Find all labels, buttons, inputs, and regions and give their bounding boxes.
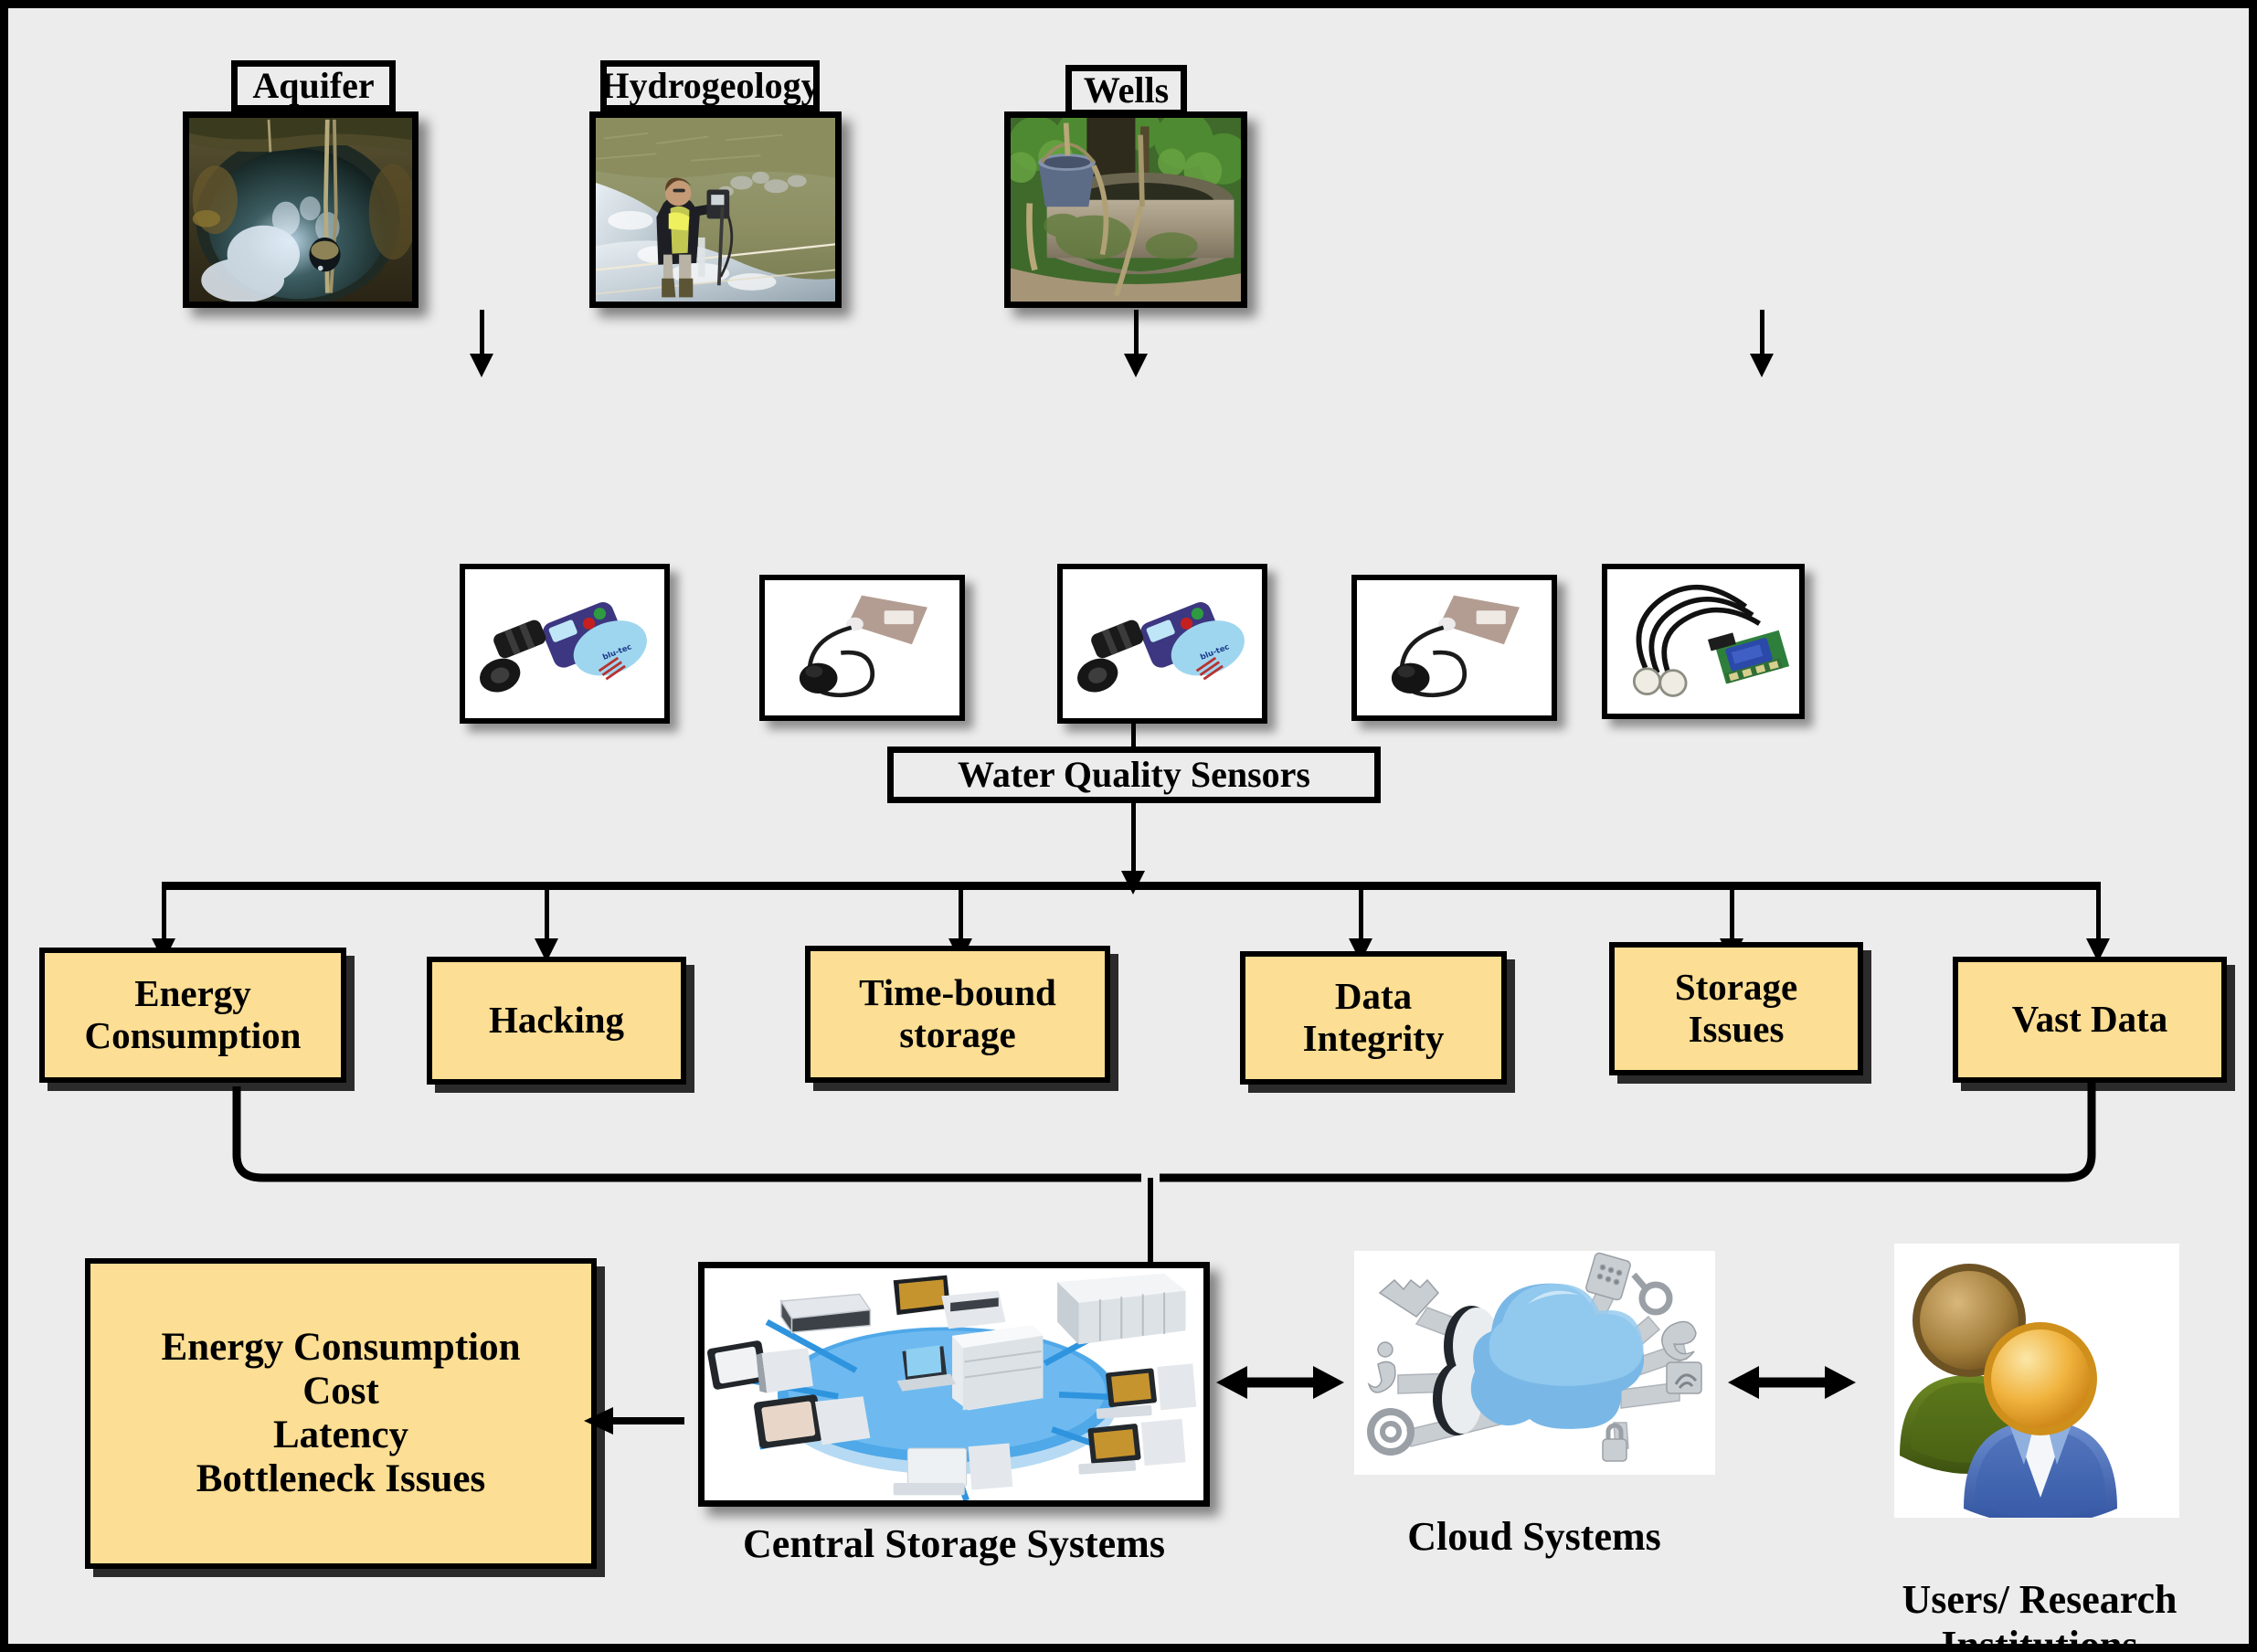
caption-users-research: Users/ Research Institutions [1870,1530,2209,1652]
issue-box-storage-issues[interactable]: Storage Issues [1609,942,1863,1075]
image-central-storage [698,1262,1210,1507]
sensor-thumb-2 [759,575,965,721]
issue-box-data-integrity[interactable]: Data Integrity [1240,951,1507,1085]
source-label-text: Wells [1084,71,1169,110]
caption-text: Cloud Systems [1407,1514,1661,1559]
source-label-text: Hydrogeology [600,67,819,105]
outcome-line: Bottleneck Issues [196,1457,486,1501]
outcome-line: Cost [302,1370,379,1414]
connector-hydrogeology-sensor [1134,310,1139,357]
issue-label: Vast Data [2012,999,2167,1041]
water-quality-sensors-box: Water Quality Sensors [887,747,1381,803]
image-users-group [1894,1244,2179,1518]
issue-box-vast-data[interactable]: Vast Data [1953,957,2227,1083]
issue-box-time-bound-storage[interactable]: Time-bound storage [805,946,1110,1083]
source-label-text: Aquifer [252,67,374,105]
diagram-canvas: Aquifer Hydrogeology Wells [0,0,2257,1652]
issue-label: Data Integrity [1303,976,1445,1060]
connector-group-bus [1131,803,1136,878]
issue-label: Hacking [489,1000,624,1042]
issue-box-hacking[interactable]: Hacking [427,957,686,1085]
arrowhead-icon [470,354,493,377]
sensor-thumb-4 [1351,575,1557,721]
issue-label: Energy Consumption [85,973,302,1057]
caption-text: Central Storage Systems [743,1521,1165,1566]
image-cloud-systems [1354,1251,1715,1475]
photo-wells [1004,111,1247,308]
sensor-thumb-5 [1602,564,1805,719]
water-quality-sensors-label: Water Quality Sensors [958,756,1310,794]
connector-sensors-group [1131,719,1136,748]
caption-text: Users/ Research Institutions [1902,1577,2178,1652]
source-label-hydrogeology: Hydrogeology [600,60,820,111]
photo-aquifer [183,111,419,308]
issue-label: Storage Issues [1675,967,1797,1051]
caption-central-storage: Central Storage Systems [680,1521,1228,1568]
photo-hydrogeology [589,111,842,308]
sensor-thumb-3: blu-tec [1057,564,1267,724]
source-label-aquifer: Aquifer [231,60,396,111]
caption-cloud-systems: Cloud Systems [1351,1514,1717,1561]
source-label-wells: Wells [1065,65,1187,116]
connector-aquifer-sensor [480,310,484,357]
outcome-line: Latency [273,1414,408,1457]
issue-box-energy-consumption[interactable]: Energy Consumption [39,948,346,1083]
outcome-box[interactable]: Energy Consumption Cost Latency Bottlene… [85,1258,597,1569]
distribution-bus [162,882,2101,890]
sensor-thumb-1: blu-tec [460,564,670,724]
connector-wells-sensor [1760,310,1764,357]
arrowhead-icon [1124,354,1148,377]
outcome-line: Energy Consumption [161,1326,520,1370]
arrowhead-icon [1750,354,1774,377]
issue-label: Time-bound storage [859,972,1056,1056]
